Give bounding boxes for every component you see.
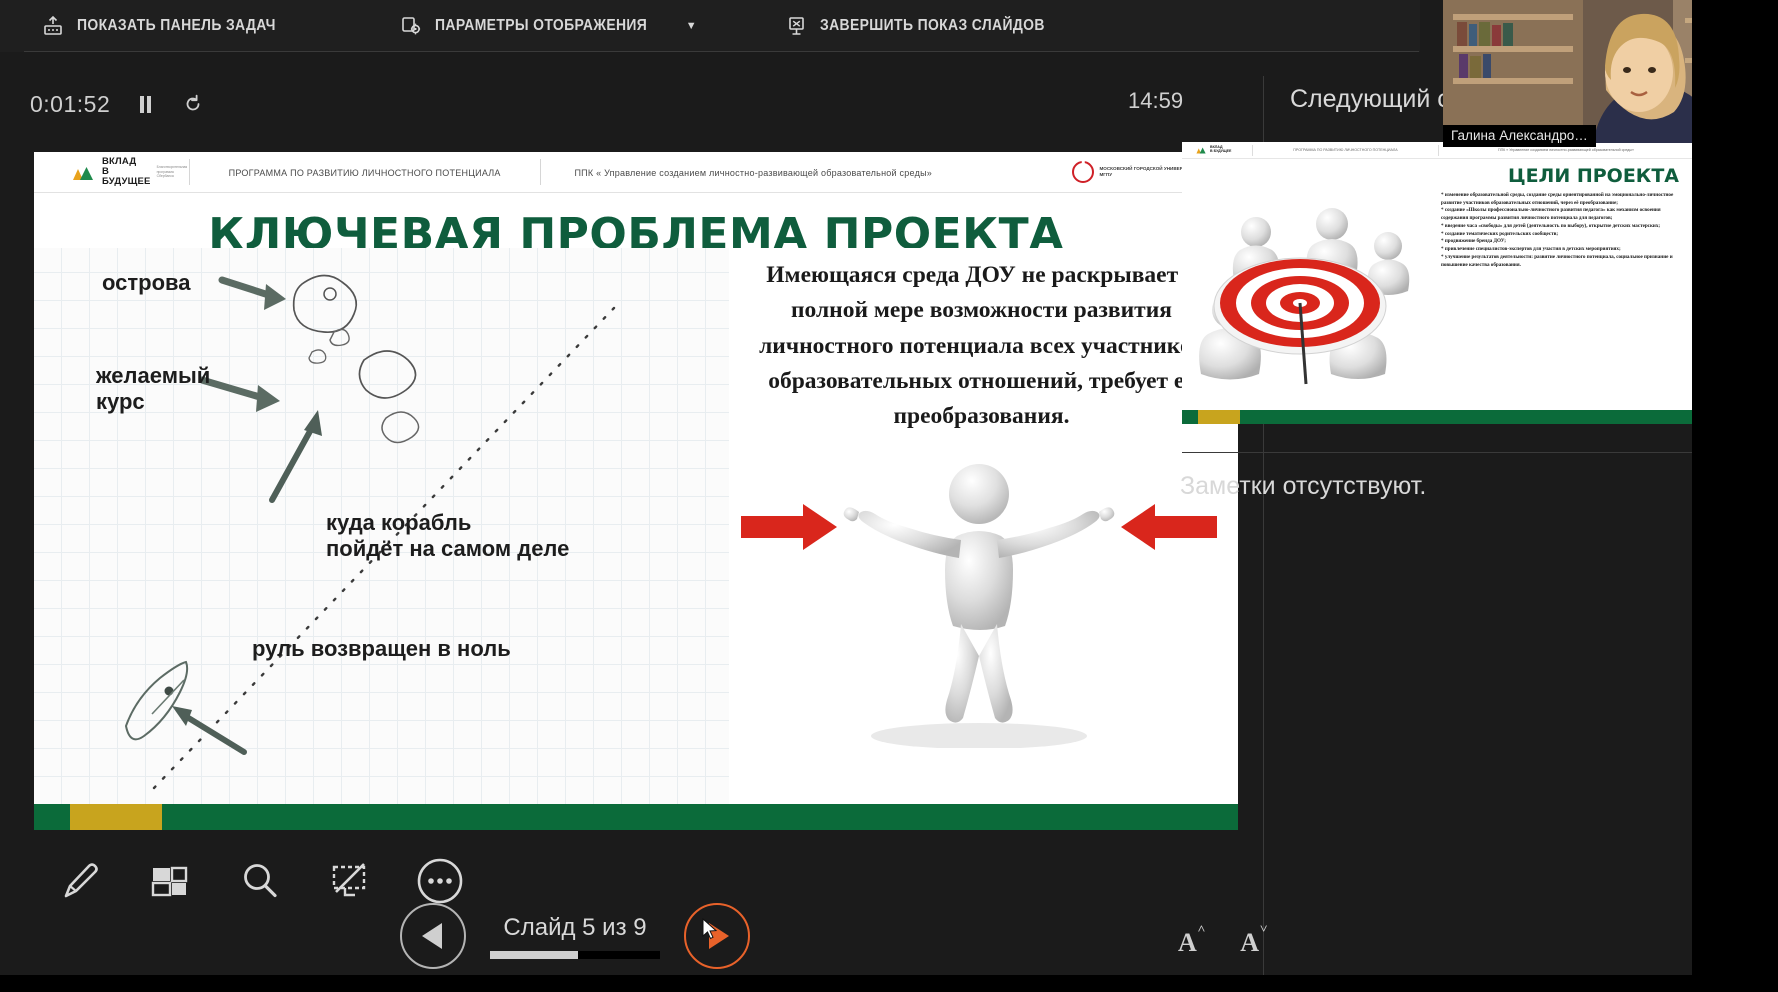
toolbar-divider <box>24 51 1419 52</box>
pressure-figure <box>729 458 1238 728</box>
thumb-title: ЦЕЛИ ПРОЕКТА <box>1182 165 1693 187</box>
speaker-notes: Заметки отсутствуют. <box>1180 472 1426 501</box>
logo-subtitle: Благотворительная программа Сбербанка <box>157 165 189 179</box>
thumb-bullet: * создание «Школы профессионально-личнос… <box>1441 207 1685 222</box>
end-show-icon <box>785 15 807 37</box>
taskbar-icon <box>42 15 64 37</box>
timer-row: 0:01:52 <box>0 82 1020 126</box>
mgpu-logo: МОСКОВСКИЙ ГОРОДСКОЙ УНИВЕРСИТЕТ МГПУ <box>1072 161 1198 183</box>
font-size-controls: A˄ A˅ <box>1178 928 1266 958</box>
ship-diagram: острова желаемый курс куда корабль пойдё… <box>34 248 729 804</box>
mountains-icon <box>1196 146 1207 154</box>
thumb-footer-bar <box>1182 410 1693 424</box>
slide-counter: Слайд 5 из 9 <box>490 914 660 942</box>
thumb-bullet: * введение часа «свободы» для детей (дея… <box>1441 223 1685 231</box>
elapsed-time: 0:01:52 <box>30 91 110 118</box>
chevron-left-icon <box>422 923 442 949</box>
course-label: ППК « Управление созданием личностно-раз… <box>575 167 933 178</box>
slide-counter-group: Слайд 5 из 9 <box>490 914 660 959</box>
participant-name-label: Галина Александро… <box>1443 125 1596 147</box>
show-taskbar-button[interactable]: ПОКАЗАТЬ ПАНЕЛЬ ЗАДАЧ <box>22 0 318 52</box>
slide-navigation: Слайд 5 из 9 <box>400 900 820 972</box>
thumb-target-image <box>1182 188 1437 410</box>
decrease-font-button[interactable]: A˅ <box>1240 928 1266 958</box>
thumb-program-cell: ПРОГРАММА ПО РАЗВИТИЮ ЛИЧНОСТНОГО ПОТЕНЦ… <box>1253 142 1438 158</box>
thumb-bullet: * изменение образовательной среды, созда… <box>1441 192 1685 207</box>
thumb-header-band: ВКЛАД В БУДУЩЕЕ ПРОГРАММА ПО РАЗВИТИЮ ЛИ… <box>1182 142 1693 159</box>
logo-line2: В БУДУЩЕЕ <box>102 167 151 186</box>
display-settings-icon <box>400 15 422 37</box>
thumb-body: * изменение образовательной среды, созда… <box>1182 188 1693 410</box>
current-clock: 14:59 <box>1128 88 1183 114</box>
annotation-actual-course: куда корабль пойдёт на самом деле <box>326 510 569 562</box>
annotation-desired-course: желаемый курс <box>96 363 210 415</box>
problem-statement-pane: Имеющаяся среда ДОУ не раскрывает в полн… <box>729 248 1238 804</box>
annotation-islands: острова <box>102 270 191 296</box>
slide-body: острова желаемый курс куда корабль пойдё… <box>34 248 1238 804</box>
all-slides-icon <box>147 858 193 904</box>
pause-icon <box>140 96 144 113</box>
zoom-icon <box>237 858 283 904</box>
increase-font-button[interactable]: A˄ <box>1178 928 1204 958</box>
current-slide[interactable]: ВКЛАД В БУДУЩЕЕ Благотворительная програ… <box>34 152 1238 830</box>
zoom-button[interactable] <box>234 855 286 907</box>
right-black-bar <box>1692 0 1778 992</box>
presenter-view-window: ПОКАЗАТЬ ПАНЕЛЬ ЗАДАЧ ПАРАМЕТРЫ ОТОБРАЖЕ… <box>0 0 1778 992</box>
target-figures-svg <box>1182 188 1437 388</box>
notes-divider <box>1182 452 1693 453</box>
slide-progress-fill <box>490 951 578 959</box>
logo-wordmark: ВКЛАД В БУДУЩЕЕ <box>102 157 151 186</box>
figure-svg <box>729 458 1229 748</box>
prev-slide-button[interactable] <box>400 903 466 969</box>
black-screen-icon <box>327 858 373 904</box>
problem-statement-text: Имеющаяся среда ДОУ не раскрывает в полн… <box>749 258 1214 434</box>
program-label: ПРОГРАММА ПО РАЗВИТИЮ ЛИЧНОСТНОГО ПОТЕНЦ… <box>229 167 501 178</box>
thumb-program-label: ПРОГРАММА ПО РАЗВИТИЮ ЛИЧНОСТНОГО ПОТЕНЦ… <box>1293 148 1397 152</box>
pen-button[interactable] <box>54 855 106 907</box>
thumb-bullet: * привлечение специалистов-экспертов для… <box>1441 246 1685 254</box>
all-slides-button[interactable] <box>144 855 196 907</box>
thumb-course-label: ППК « Управление созданием личностно-раз… <box>1498 148 1634 152</box>
slide-footer-green <box>34 804 70 830</box>
caret-down-icon: ˅ <box>1260 921 1267 936</box>
restart-timer-button[interactable] <box>180 91 206 117</box>
slide-progress-bar[interactable] <box>490 951 660 959</box>
program-cell: ПРОГРАММА ПО РАЗВИТИЮ ЛИЧНОСТНОГО ПОТЕНЦ… <box>190 152 540 192</box>
presenter-toolbar: ПОКАЗАТЬ ПАНЕЛЬ ЗАДАЧ ПАРАМЕТРЫ ОТОБРАЖЕ… <box>0 0 1420 52</box>
thumb-logo-text: ВКЛАД В БУДУЩЕЕ <box>1210 146 1231 154</box>
bottom-black-bar <box>0 975 1778 992</box>
black-screen-button[interactable] <box>324 855 376 907</box>
thumb-bullet: * улучшение результатов деятельности: ра… <box>1441 254 1685 269</box>
logo-line1: ВКЛАД <box>102 157 151 167</box>
annotation-rudder: руль возвращен в ноль <box>252 636 511 662</box>
show-taskbar-label: ПОКАЗАТЬ ПАНЕЛЬ ЗАДАЧ <box>77 17 276 35</box>
restart-icon <box>182 93 204 115</box>
course-cell: ППК « Управление созданием личностно-раз… <box>541 152 966 192</box>
end-slideshow-label: ЗАВЕРШИТЬ ПОКАЗ СЛАЙДОВ <box>820 17 1045 35</box>
vklad-v-budushchee-logo: ВКЛАД В БУДУЩЕЕ Благотворительная програ… <box>34 157 189 186</box>
slide-footer-bar <box>34 804 1238 830</box>
mouse-cursor <box>702 918 718 940</box>
display-settings-button[interactable]: ПАРАМЕТРЫ ОТОБРАЖЕНИЯ ▼ <box>380 0 717 52</box>
chevron-down-icon: ▼ <box>686 20 697 32</box>
caret-up-icon: ˄ <box>1198 921 1205 936</box>
arrow-right-red <box>1121 504 1217 550</box>
next-slide-thumbnail[interactable]: ВКЛАД В БУДУЩЕЕ ПРОГРАММА ПО РАЗВИТИЮ ЛИ… <box>1182 142 1693 424</box>
mountains-icon <box>72 164 96 181</box>
display-settings-label: ПАРАМЕТРЫ ОТОБРАЖЕНИЯ <box>435 17 647 35</box>
arrow-left-red <box>741 504 837 550</box>
thumb-bullet: * продвижение бренда ДОУ; <box>1441 238 1685 246</box>
more-options-icon <box>415 856 465 906</box>
thumb-logo: ВКЛАД В БУДУЩЕЕ <box>1182 146 1252 154</box>
thumb-footer-green <box>1182 410 1198 424</box>
pen-icon <box>57 858 103 904</box>
pause-timer-button[interactable] <box>132 91 158 117</box>
thumb-bullets: * изменение образовательной среды, созда… <box>1437 188 1693 410</box>
end-slideshow-button[interactable]: ЗАВЕРШИТЬ ПОКАЗ СЛАЙДОВ <box>765 0 1090 52</box>
slide-header-band: ВКЛАД В БУДУЩЕЕ Благотворительная програ… <box>34 152 1238 193</box>
ring-icon <box>1072 161 1094 183</box>
